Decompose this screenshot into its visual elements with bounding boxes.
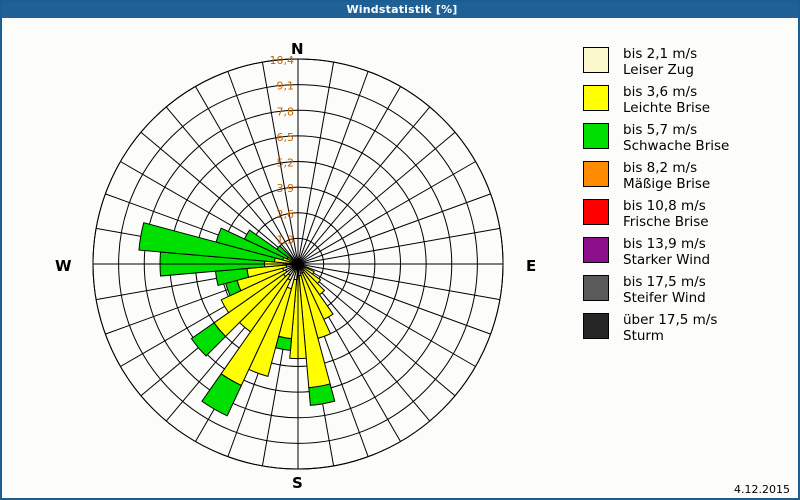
legend-swatch [583, 47, 609, 73]
legend-label: bis 3,6 m/sLeichte Brise [623, 84, 710, 116]
radial-tick-label: 5,2 [277, 157, 295, 170]
window-title-bar: Windstatistik [%] [2, 2, 800, 18]
radial-tick-label: 1,3 [277, 233, 295, 246]
compass-label-east: E [526, 257, 536, 275]
radial-tick-label: 7,8 [277, 105, 295, 118]
legend-swatch [583, 85, 609, 111]
legend-label: bis 2,1 m/sLeiser Zug [623, 46, 697, 78]
legend-label: bis 13,9 m/sStarker Wind [623, 236, 710, 268]
legend-label: bis 5,7 m/sSchwache Brise [623, 122, 729, 154]
legend-speed-range: bis 2,1 m/s [623, 46, 697, 62]
legend-wind-name: Schwache Brise [623, 138, 729, 154]
legend-swatch [583, 199, 609, 225]
legend-wind-name: Leichte Brise [623, 100, 710, 116]
legend-swatch [583, 275, 609, 301]
legend-item[interactable]: bis 13,9 m/sStarker Wind [583, 236, 793, 268]
legend-item[interactable]: bis 2,1 m/sLeiser Zug [583, 46, 793, 78]
chart-area: 1,32,63,95,26,57,89,110,4 N S W E bis 2,… [2, 18, 798, 498]
legend-swatch [583, 123, 609, 149]
windstatistik-window: Windstatistik [%] 1,32,63,95,26,57,89,11… [0, 0, 800, 500]
legend-swatch [583, 237, 609, 263]
radial-tick-labels: 1,32,63,95,26,57,89,110,4 [270, 54, 295, 246]
legend-item[interactable]: über 17,5 m/sSturm [583, 312, 793, 344]
legend-wind-name: Frische Brise [623, 214, 709, 230]
compass-label-west: W [55, 257, 72, 275]
legend-speed-range: bis 3,6 m/s [623, 84, 710, 100]
legend-item[interactable]: bis 5,7 m/sSchwache Brise [583, 122, 793, 154]
legend-speed-range: bis 8,2 m/s [623, 160, 710, 176]
legend-label: bis 8,2 m/sMäßige Brise [623, 160, 710, 192]
legend-speed-range: bis 17,5 m/s [623, 274, 706, 290]
legend-wind-name: Steifer Wind [623, 290, 706, 306]
radial-tick-label: 6,5 [277, 131, 295, 144]
legend-label: bis 17,5 m/sSteifer Wind [623, 274, 706, 306]
legend-speed-range: bis 13,9 m/s [623, 236, 710, 252]
legend-swatch [583, 161, 609, 187]
legend-speed-range: über 17,5 m/s [623, 312, 717, 328]
legend-item[interactable]: bis 3,6 m/sLeichte Brise [583, 84, 793, 116]
radial-tick-label: 2,6 [277, 208, 295, 221]
compass-label-south: S [292, 474, 303, 492]
legend-speed-range: bis 10,8 m/s [623, 198, 709, 214]
wind-rose: 1,32,63,95,26,57,89,110,4 N S W E [2, 18, 572, 498]
window-title: Windstatistik [%] [346, 3, 457, 16]
legend-item[interactable]: bis 17,5 m/sSteifer Wind [583, 274, 793, 306]
legend-label: bis 10,8 m/sFrische Brise [623, 198, 709, 230]
legend-item[interactable]: bis 8,2 m/sMäßige Brise [583, 160, 793, 192]
legend-wind-name: Starker Wind [623, 252, 710, 268]
legend-speed-range: bis 5,7 m/s [623, 122, 729, 138]
footer-date: 4.12.2015 [734, 483, 790, 496]
polar-axis-lines [93, 59, 503, 469]
wind-rose-svg: 1,32,63,95,26,57,89,110,4 [2, 18, 572, 498]
legend-wind-name: Mäßige Brise [623, 176, 710, 192]
legend-swatch [583, 313, 609, 339]
radial-tick-label: 9,1 [277, 80, 295, 93]
compass-label-north: N [291, 40, 304, 58]
legend: bis 2,1 m/sLeiser Zugbis 3,6 m/sLeichte … [583, 46, 793, 350]
wind-rose-segment [309, 384, 335, 405]
legend-label: über 17,5 m/sSturm [623, 312, 717, 344]
radial-tick-label: 3,9 [277, 182, 295, 195]
legend-item[interactable]: bis 10,8 m/sFrische Brise [583, 198, 793, 230]
legend-wind-name: Leiser Zug [623, 62, 697, 78]
legend-wind-name: Sturm [623, 328, 717, 344]
